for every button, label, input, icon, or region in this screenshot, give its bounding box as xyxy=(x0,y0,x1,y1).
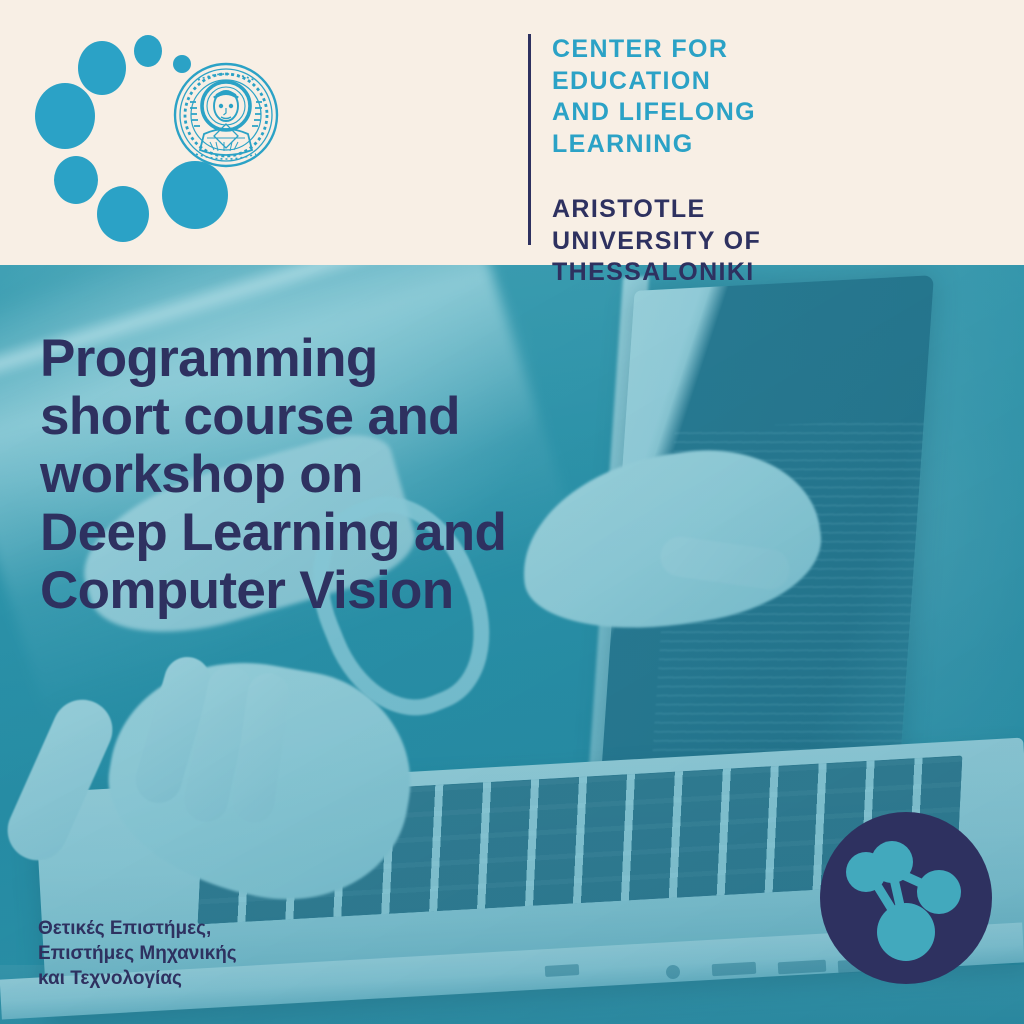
title-line-2: short course and xyxy=(40,388,740,446)
center-line-1: CENTER FOR xyxy=(552,34,982,66)
title-line-4: Deep Learning and xyxy=(40,504,740,562)
network-nodes-icon xyxy=(820,812,992,984)
university-line-3: THESSALONIKI xyxy=(552,257,982,289)
university-line-2: UNIVERSITY OF xyxy=(552,226,982,258)
header-text-block: CENTER FOR EDUCATION AND LIFELONG LEARNI… xyxy=(552,34,982,289)
center-line-2: EDUCATION xyxy=(552,66,982,98)
department-line-3: και Τεχνολογίας xyxy=(38,966,237,991)
center-line-4: LEARNING xyxy=(552,129,982,161)
title-line-3: workshop on xyxy=(40,446,740,504)
university-line-1: ARISTOTLE xyxy=(552,194,982,226)
network-badge xyxy=(820,812,992,984)
center-line-3: AND LIFELONG xyxy=(552,97,982,129)
auth-seal-dots-logo xyxy=(30,28,280,243)
header-band: CENTER FOR EDUCATION AND LIFELONG LEARNI… xyxy=(0,0,1024,265)
department-line-1: Θετικές Επιστήμες, xyxy=(38,916,237,941)
aristotle-university-seal xyxy=(175,64,277,166)
title-line-5: Computer Vision xyxy=(40,562,740,620)
header-text-gap xyxy=(552,160,982,194)
department-label: Θετικές Επιστήμες, Επιστήμες Μηχανικής κ… xyxy=(38,916,237,991)
page-title: Programming short course and workshop on… xyxy=(40,330,740,620)
title-line-1: Programming xyxy=(40,330,740,388)
department-line-2: Επιστήμες Μηχανικής xyxy=(38,941,237,966)
header-divider xyxy=(528,34,531,245)
poster: CENTER FOR EDUCATION AND LIFELONG LEARNI… xyxy=(0,0,1024,1024)
